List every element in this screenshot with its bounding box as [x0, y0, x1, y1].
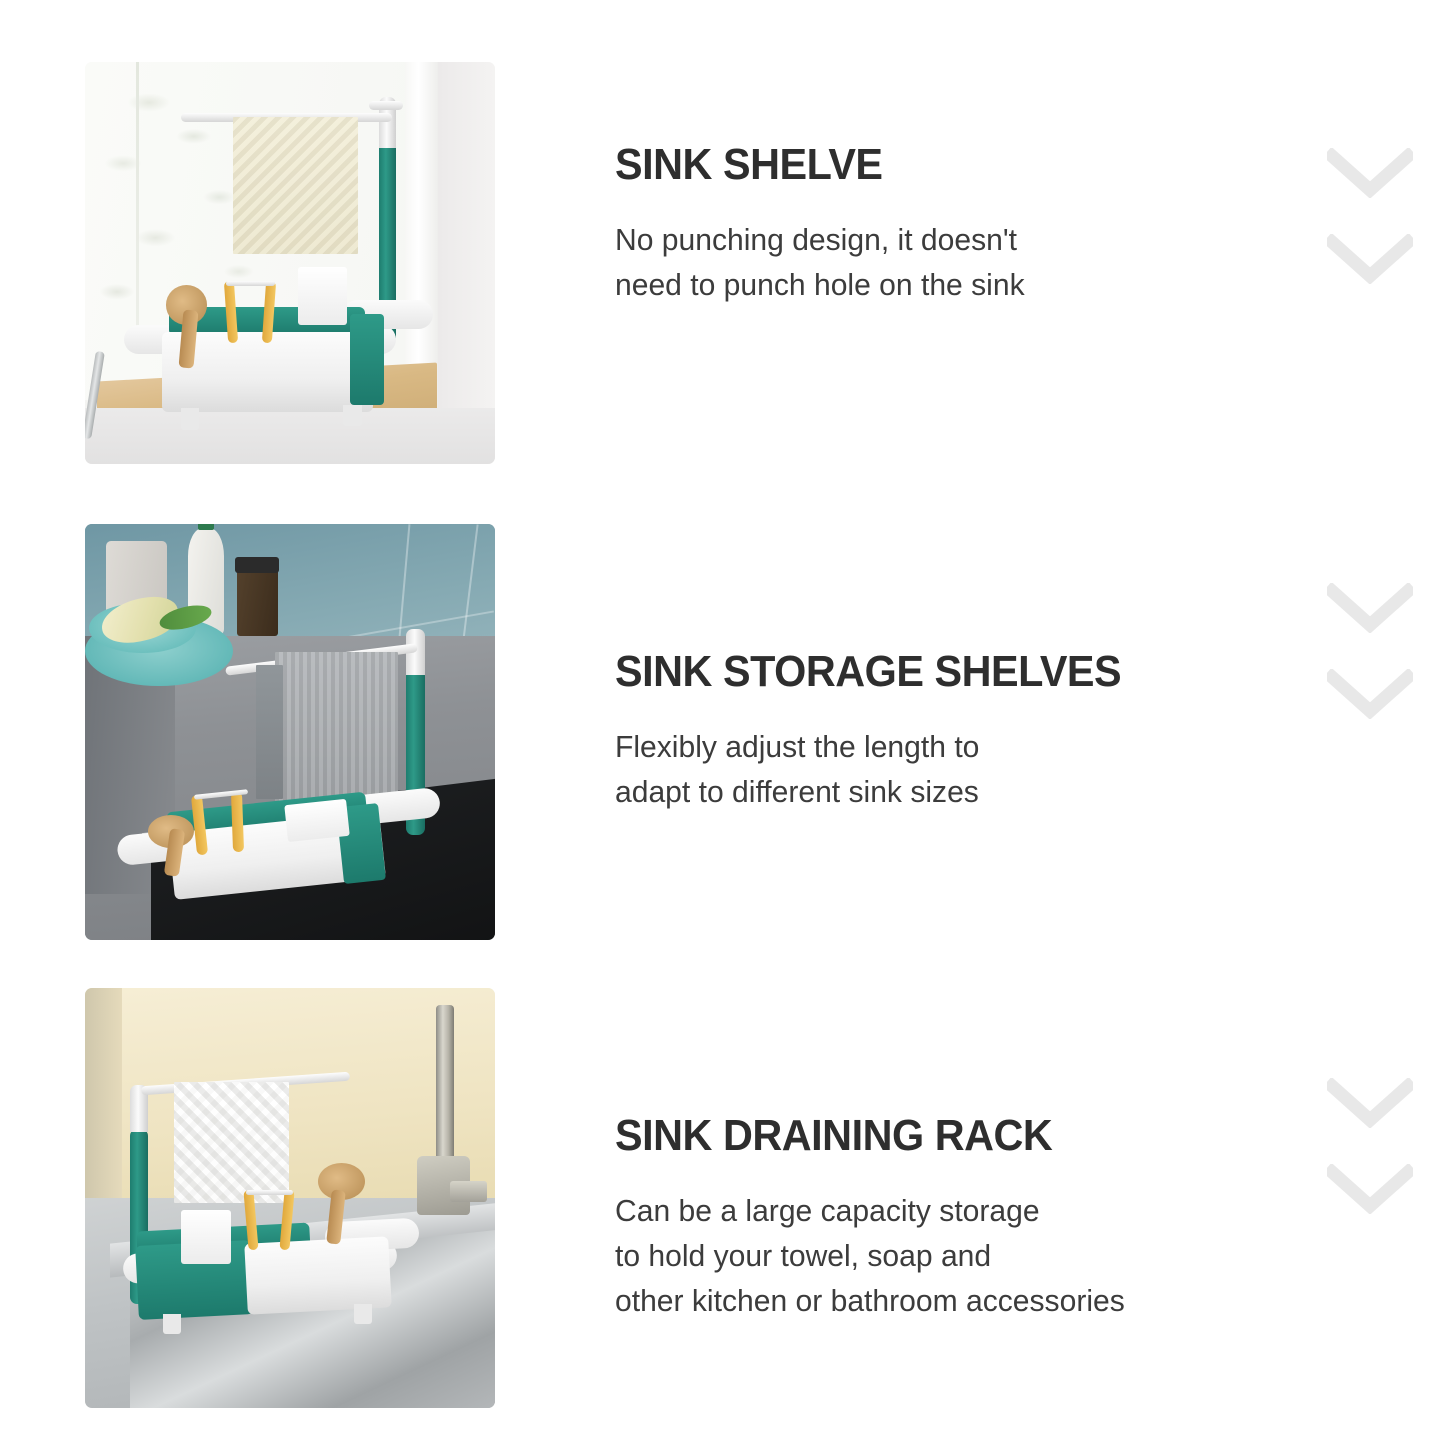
- caddy-foot-left: [181, 408, 200, 430]
- chevron-down-icon: [1327, 234, 1413, 284]
- feature-description: Flexibly adjust the length to adapt to d…: [615, 725, 1391, 815]
- white-textured-towel: [174, 1082, 289, 1203]
- chevron-down-icon: [1327, 669, 1413, 719]
- feature-row: SINK SHELVE No punching design, it doesn…: [0, 62, 1445, 464]
- feature-title: SINK SHELVE: [615, 142, 1367, 188]
- product-image-sink-draining-rack: [85, 988, 495, 1408]
- chevron-down-icon: [1327, 148, 1413, 198]
- product-image-sink-shelve: [85, 62, 495, 464]
- caddy-basket: [244, 1236, 392, 1314]
- caddy-foot-right: [354, 1304, 372, 1324]
- white-sponge: [181, 1210, 232, 1264]
- chevron-group: [1310, 148, 1430, 284]
- feature-description-line: adapt to different sink sizes: [615, 770, 1391, 815]
- chevron-down-icon: [1327, 583, 1413, 633]
- white-sponge: [285, 799, 350, 842]
- feature-description-line: Flexibly adjust the length to: [615, 725, 1391, 770]
- product-image-sink-storage-shelves: [85, 524, 495, 940]
- feature-row: SINK STORAGE SHELVES Flexibly adjust the…: [0, 524, 1445, 940]
- sink-caddy-product: [101, 1038, 462, 1374]
- feature-row: SINK DRAINING RACK Can be a large capaci…: [0, 988, 1445, 1408]
- product-feature-page: SINK SHELVE No punching design, it doesn…: [0, 0, 1445, 1445]
- chevron-down-icon: [1327, 1164, 1413, 1214]
- feature-description-line: No punching design, it doesn't: [615, 218, 1391, 263]
- feature-title: SINK STORAGE SHELVES: [615, 649, 1367, 695]
- feature-text-column: SINK SHELVE No punching design, it doesn…: [495, 62, 1445, 464]
- feature-description-line: Can be a large capacity storage: [615, 1189, 1391, 1234]
- yellow-tong-right: [231, 792, 244, 852]
- cream-towel: [233, 117, 357, 254]
- feature-description-line: need to punch hole on the sink: [615, 263, 1391, 308]
- feature-description: No punching design, it doesn't need to p…: [615, 218, 1391, 308]
- white-sponge: [298, 267, 347, 325]
- caddy-foot-left: [163, 1314, 181, 1334]
- feature-text-column: SINK DRAINING RACK Can be a large capaci…: [495, 988, 1445, 1408]
- chevron-group: [1310, 1078, 1430, 1214]
- caddy-foot-right: [343, 405, 362, 427]
- chevron-down-icon: [1327, 1078, 1413, 1128]
- sink-caddy-product: [101, 582, 486, 915]
- grey-towel: [275, 652, 398, 802]
- caddy-basket-green-right: [350, 314, 384, 404]
- chevron-group: [1310, 583, 1430, 719]
- grey-towel-back-fold: [256, 665, 283, 798]
- feature-description-line: other kitchen or bathroom accessories: [615, 1279, 1391, 1324]
- feature-title: SINK DRAINING RACK: [615, 1113, 1367, 1159]
- sink-caddy-product: [101, 86, 478, 448]
- tong-crossbar: [226, 281, 275, 286]
- feature-description-line: to hold your towel, soap and: [615, 1234, 1391, 1279]
- towel-bar-elbow: [369, 101, 403, 110]
- feature-text-column: SINK STORAGE SHELVES Flexibly adjust the…: [495, 524, 1445, 940]
- feature-description: Can be a large capacity storage to hold …: [615, 1189, 1391, 1324]
- tong-crossbar: [246, 1190, 293, 1195]
